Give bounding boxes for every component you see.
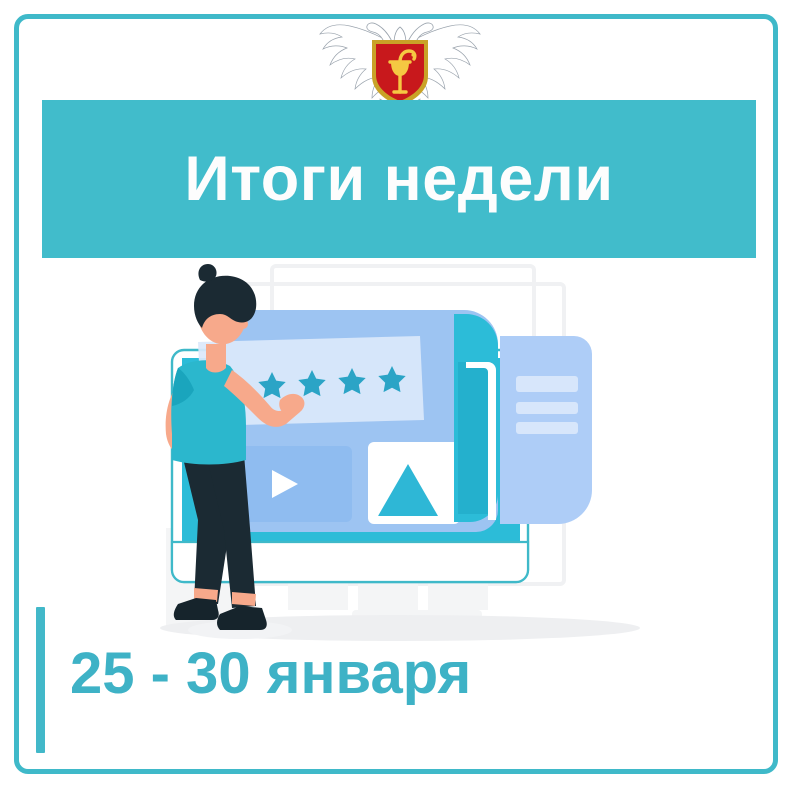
curled-page-scroll	[454, 314, 498, 522]
person-neck	[206, 344, 226, 373]
person-reviewing-content-illustration	[120, 258, 680, 658]
scroll-page	[500, 336, 592, 524]
date-range-label: 25 - 30 января	[70, 645, 471, 703]
poster-canvas: Итоги недели	[0, 0, 800, 800]
page-title: Итоги недели	[184, 148, 613, 211]
date-accent-bar	[36, 607, 45, 753]
image-thumbnail	[368, 442, 460, 524]
scroll-page-lines	[516, 376, 578, 434]
title-banner: Итоги недели	[42, 100, 756, 258]
person-ankle-right	[232, 592, 256, 606]
sun-shape	[426, 456, 442, 472]
